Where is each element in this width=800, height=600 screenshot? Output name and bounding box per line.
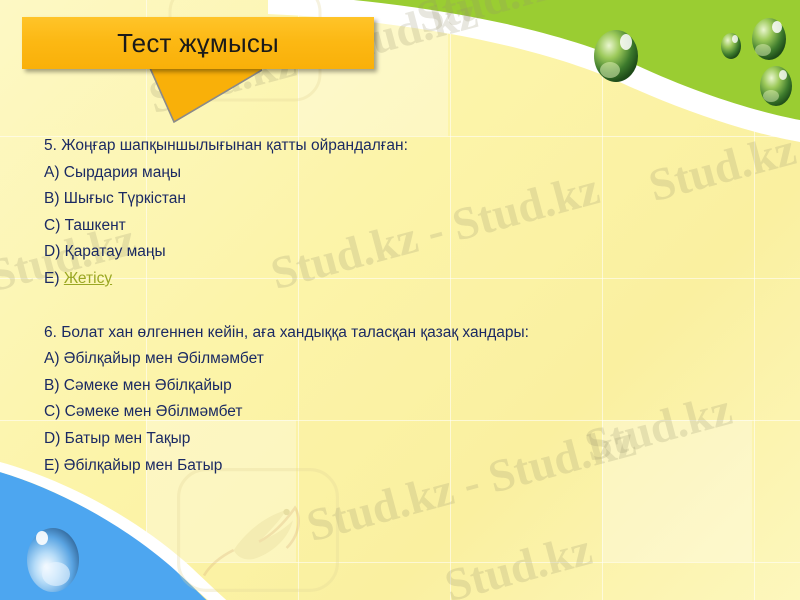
water-droplet-blue — [22, 518, 84, 598]
answer-option-correct[interactable]: E) Жетісу — [44, 266, 764, 293]
watermark-text: Stud.kz — [411, 0, 569, 44]
answer-option[interactable]: A) Әбілқайыр мен Әбілмәмбет — [44, 346, 764, 373]
slide-title-bubble: Тест жұмысы — [22, 17, 374, 124]
water-droplet-green — [590, 20, 642, 90]
questions-content: 5. Жоңғар шапқыншылығынан қатты ойрандал… — [44, 133, 764, 479]
speech-bubble-tail — [22, 68, 374, 124]
answer-option[interactable]: A) Сырдария маңы — [44, 160, 764, 187]
answer-option[interactable]: D) Қаратау маңы — [44, 239, 764, 266]
slide-title-text: Тест жұмысы — [117, 30, 279, 56]
answer-option[interactable]: E) Әбілқайыр мен Батыр — [44, 453, 764, 480]
watermark-text: Stud.kz - Stud.kz — [143, 0, 483, 124]
answer-option-link[interactable]: Жетісу — [64, 270, 112, 287]
answer-option[interactable]: C) Ташкент — [44, 213, 764, 240]
answer-option-prefix: E) — [44, 270, 64, 287]
presentation-slide: Stud.kz - Stud.kz Stud.kz - Stud.kz Stud… — [0, 0, 800, 600]
answer-option[interactable]: C) Сәмеке мен Әбілмәмбет — [44, 399, 764, 426]
answer-option[interactable]: B) Шығыс Түркістан — [44, 186, 764, 213]
slide-title-box: Тест жұмысы — [22, 17, 374, 69]
question-prompt: 5. Жоңғар шапқыншылығынан қатты ойрандал… — [44, 133, 764, 160]
answer-option[interactable]: B) Сәмеке мен Әбілқайыр — [44, 373, 764, 400]
water-droplet-green-small — [718, 28, 744, 62]
water-droplet-green-medium — [748, 8, 790, 66]
question-prompt: 6. Болат хан өлгеннен кейін, аға хандыққ… — [44, 320, 764, 347]
question-spacer — [44, 293, 764, 320]
hummingbird-logo-watermark — [168, 460, 348, 600]
background-tile-highlight — [298, 0, 448, 136]
hummingbird-logo-watermark — [160, 0, 330, 108]
watermark-text: Stud.kz — [439, 522, 597, 600]
answer-option[interactable]: D) Батыр мен Тақыр — [44, 426, 764, 453]
water-droplet-green-edge — [756, 58, 796, 110]
